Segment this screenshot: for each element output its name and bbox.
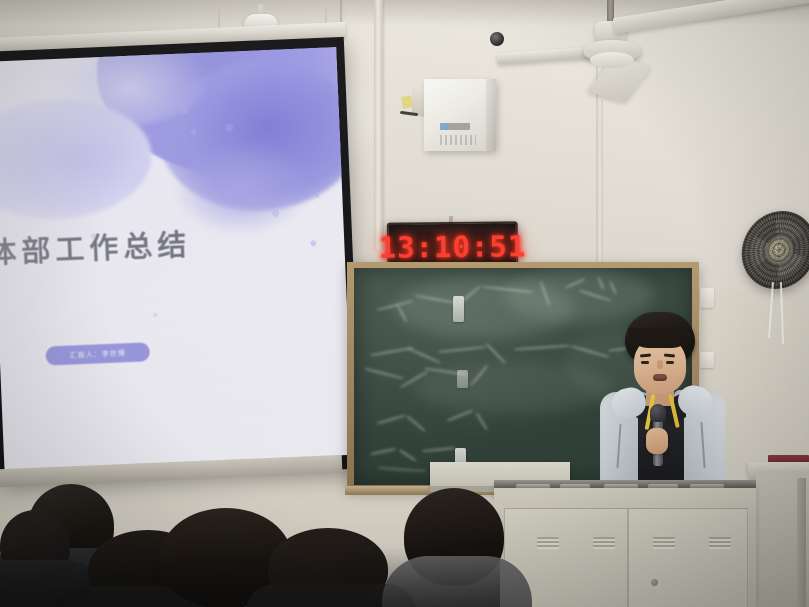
- presenter-hair-fringe: [628, 328, 692, 348]
- chalkboard-magnet-2[interactable]: [457, 370, 468, 388]
- ceiling-fan-cap: [590, 52, 634, 68]
- side-desk-leg: [797, 478, 806, 607]
- wall-conduit-pipe: [374, 0, 383, 250]
- lectern-vent-2: [593, 537, 615, 549]
- presenter-hand: [646, 428, 668, 454]
- presentation-slide: 体部工作总结 汇报人：李世博 · · · · · · · · · · · · ·…: [0, 47, 353, 469]
- slide-dot: [315, 194, 319, 198]
- presenter-eye-left: [641, 361, 649, 364]
- lectern-vent-1: [537, 537, 559, 549]
- lectern-vent-4: [709, 537, 731, 549]
- audience-shoulders-knit: [382, 556, 532, 607]
- slide-footnote-1: · · · · · · · · ·: [187, 399, 264, 408]
- wall-box-tag: [401, 95, 413, 109]
- lectern-door-lock-icon[interactable]: [651, 579, 658, 586]
- wall-box-logo-icon: [440, 123, 470, 130]
- slide-dot: [153, 313, 157, 317]
- slide-presenter-badge: 汇报人：李世博: [45, 342, 150, 365]
- presenter-nose: [657, 360, 663, 369]
- slide-title: 体部工作总结: [0, 219, 248, 272]
- lectern-door-right[interactable]: [628, 508, 748, 607]
- wall-conduit-pipe-2: [597, 100, 603, 275]
- presenter-eye-right: [666, 361, 674, 364]
- wall-box-vent-grille: [440, 135, 476, 145]
- projection-screen: 体部工作总结 汇报人：李世博 · · · · · · · · · · · · ·…: [0, 37, 362, 484]
- lectern-vent-3: [653, 537, 675, 549]
- wall-mounted-speaker-unit: [424, 79, 496, 151]
- slide-footnote-2: · · · · · · · · · · · ·: [164, 410, 268, 420]
- slide-dot: [310, 240, 316, 246]
- presenter-student: [598, 312, 728, 487]
- classroom-photo-scene: 体部工作总结 汇报人：李世博 · · · · · · · · · · · · ·…: [0, 0, 809, 607]
- light-switch-plate-1[interactable]: [700, 288, 714, 308]
- microphone-head-icon: [650, 404, 666, 422]
- presenter-mouth: [653, 374, 667, 381]
- camera-lens-icon: [490, 32, 504, 46]
- chalkboard-magnet-1[interactable]: [453, 296, 464, 322]
- clock-time-display: 13:10:51: [378, 229, 526, 265]
- wall-box-side-panel: [486, 79, 496, 151]
